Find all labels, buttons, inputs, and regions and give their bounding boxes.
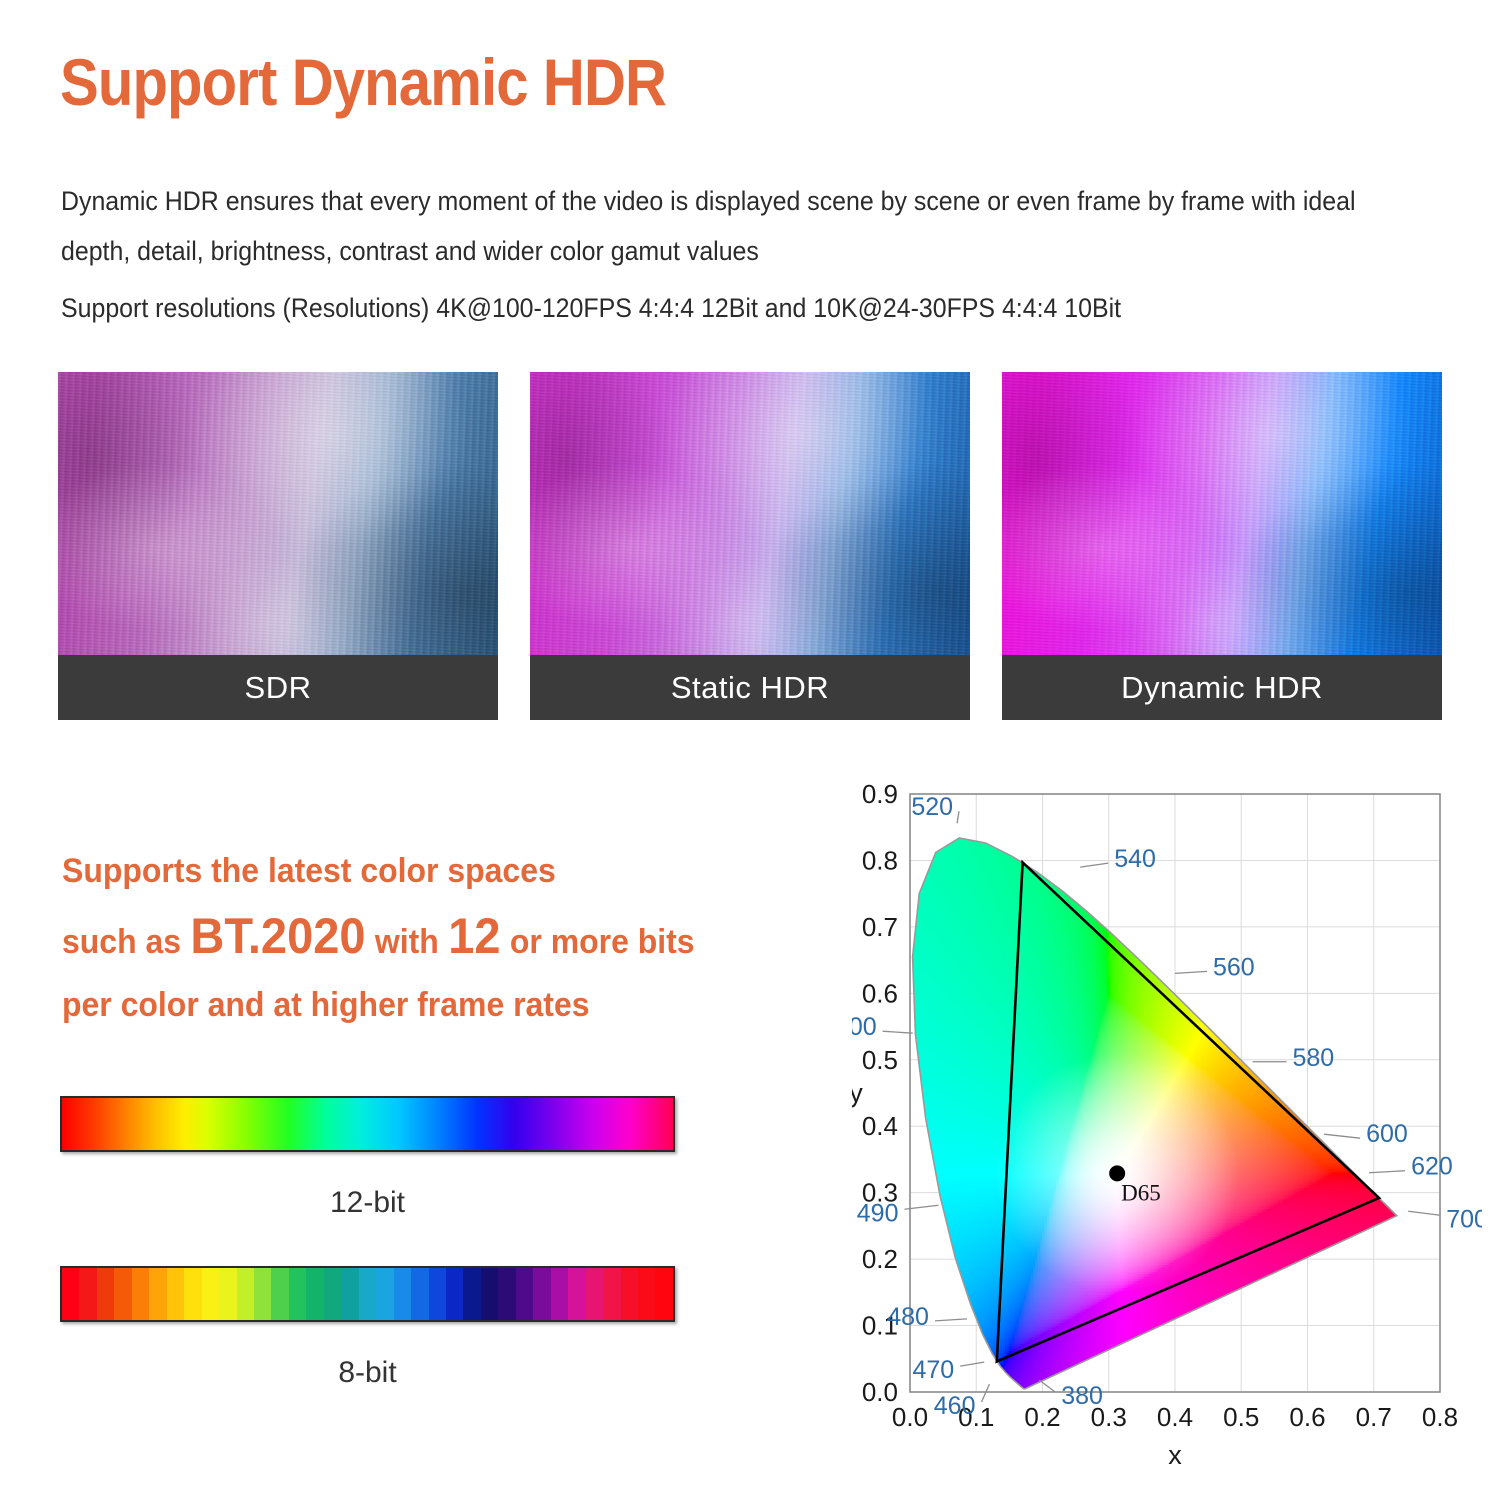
- gradient-band: [219, 1268, 236, 1320]
- gradient-bar-8bit-group: 8-bit: [60, 1266, 675, 1390]
- gradient-band: [551, 1268, 568, 1320]
- wavelength-leader: [1369, 1171, 1405, 1173]
- white-point-label: D65: [1121, 1180, 1161, 1205]
- color-spaces-suffix: or more bits: [510, 906, 695, 978]
- x-tick-label: 0.5: [1223, 1402, 1259, 1432]
- gradient-band: [481, 1268, 498, 1320]
- gradient-band: [446, 1268, 463, 1320]
- wavelength-label: 620: [1411, 1153, 1453, 1181]
- color-spaces-standard: BT.2020: [190, 900, 365, 972]
- panel-image-static-hdr: [530, 372, 970, 655]
- color-spaces-line-1: Supports the latest color spaces: [62, 842, 776, 900]
- y-tick-label: 0.6: [862, 978, 898, 1008]
- wavelength-leader: [982, 1384, 990, 1402]
- panel-image-grain-layer: [530, 372, 970, 655]
- gradient-band: [132, 1268, 149, 1320]
- wavelength-label: 500: [852, 1013, 877, 1041]
- gradient-bar-8bit-caption: 8-bit: [60, 1356, 675, 1390]
- color-spaces-line-3: per color and at higher frame rates: [62, 978, 776, 1032]
- y-tick-label: 0.9: [862, 779, 898, 809]
- gradient-band: [568, 1268, 585, 1320]
- gradient-band: [341, 1268, 358, 1320]
- panel-label-sdr: SDR: [58, 655, 498, 720]
- panel-label-dynamic-hdr: Dynamic HDR: [1002, 655, 1442, 720]
- gradient-band: [655, 1268, 672, 1320]
- cie-chromaticity-svg: D650.00.10.20.30.40.50.60.70.80.00.10.20…: [852, 772, 1482, 1472]
- gradient-band: [603, 1268, 620, 1320]
- gradient-band: [202, 1268, 219, 1320]
- y-tick-label: 0.7: [862, 912, 898, 942]
- intro-line-1: Dynamic HDR ensures that every moment of…: [61, 186, 1356, 216]
- x-axis-label: x: [1168, 1440, 1182, 1470]
- gradient-band: [533, 1268, 550, 1320]
- wavelength-label: 380: [1061, 1382, 1103, 1410]
- color-spaces-with: with: [375, 906, 439, 978]
- wavelength-leader: [957, 811, 959, 823]
- comparison-panel-dynamic-hdr: Dynamic HDR: [1002, 372, 1442, 720]
- color-spaces-text-block: Supports the latest color spaces such as…: [62, 842, 776, 1032]
- gradient-band: [516, 1268, 533, 1320]
- intro-line-2: depth, detail, brightness, contrast and …: [61, 226, 1377, 276]
- y-tick-label: 0.2: [862, 1244, 898, 1274]
- wavelength-leader: [883, 1031, 913, 1033]
- gradient-band: [306, 1268, 323, 1320]
- wavelength-leader: [1324, 1134, 1360, 1138]
- wavelength-leader: [1080, 863, 1108, 867]
- gradient-band: [149, 1268, 166, 1320]
- x-tick-label: 0.2: [1024, 1402, 1060, 1432]
- panel-image-grain-layer: [1002, 372, 1442, 655]
- gradient-band: [271, 1268, 288, 1320]
- gradient-band: [114, 1268, 131, 1320]
- wavelength-label: 600: [1366, 1120, 1408, 1148]
- y-tick-label: 0.5: [862, 1045, 898, 1075]
- gradient-band: [289, 1268, 306, 1320]
- panel-image-dynamic-hdr: [1002, 372, 1442, 655]
- comparison-panel-static-hdr: Static HDR: [530, 372, 970, 720]
- y-tick-label: 0.0: [862, 1377, 898, 1407]
- page-title: Support Dynamic HDR: [60, 44, 666, 120]
- panel-image-grain-layer: [58, 372, 498, 655]
- gradient-band: [324, 1268, 341, 1320]
- wavelength-label: 520: [911, 793, 953, 821]
- gradient-band: [184, 1268, 201, 1320]
- gradient-band: [167, 1268, 184, 1320]
- color-spaces-line-2: such as BT.2020 with 12 or more bits: [62, 900, 776, 978]
- wavelength-leader: [935, 1319, 967, 1321]
- comparison-panel-sdr: SDR: [58, 372, 498, 720]
- wavelength-label: 580: [1293, 1044, 1335, 1072]
- gradient-band: [463, 1268, 480, 1320]
- gradient-band: [394, 1268, 411, 1320]
- x-tick-label: 0.6: [1289, 1402, 1325, 1432]
- gradient-bar-8bit: [60, 1266, 675, 1322]
- wavelength-label: 700: [1446, 1205, 1482, 1233]
- wavelength-label: 470: [912, 1356, 954, 1384]
- wavelength-label: 480: [887, 1303, 929, 1331]
- white-point-marker: [1109, 1165, 1125, 1181]
- wavelength-label: 460: [934, 1392, 976, 1420]
- gradient-bar-12bit-caption: 12-bit: [60, 1186, 675, 1220]
- panel-image-sdr: [58, 372, 498, 655]
- gradient-band: [429, 1268, 446, 1320]
- x-tick-label: 0.4: [1157, 1402, 1193, 1432]
- x-tick-label: 0.8: [1422, 1402, 1458, 1432]
- color-spaces-bit-depth: 12: [448, 900, 500, 972]
- y-axis-label: y: [852, 1078, 863, 1108]
- gradient-band: [638, 1268, 655, 1320]
- wavelength-label: 490: [857, 1199, 899, 1227]
- color-spaces-prefix: such as: [62, 906, 181, 978]
- wavelength-leader: [960, 1362, 984, 1366]
- gradient-band: [237, 1268, 254, 1320]
- wavelength-leader: [1039, 1380, 1055, 1392]
- wavelength-leader: [1408, 1211, 1440, 1215]
- gradient-band: [254, 1268, 271, 1320]
- intro-paragraph: Dynamic HDR ensures that every moment of…: [61, 176, 1377, 276]
- gradient-band: [79, 1268, 96, 1320]
- wavelength-label: 560: [1213, 953, 1255, 981]
- gradient-band: [586, 1268, 603, 1320]
- gradient-bar-12bit-group: 12-bit: [60, 1096, 675, 1220]
- gradient-band: [62, 1268, 79, 1320]
- gradient-band: [621, 1268, 638, 1320]
- cie-chromaticity-chart: D650.00.10.20.30.40.50.60.70.80.00.10.20…: [852, 772, 1482, 1472]
- gradient-band: [359, 1268, 376, 1320]
- gradient-band: [411, 1268, 428, 1320]
- gradient-bar-12bit: [60, 1096, 675, 1152]
- hdr-comparison-panels: SDR Static HDR Dynamic HDR: [58, 372, 1442, 720]
- gradient-band: [376, 1268, 393, 1320]
- wavelength-leader: [1175, 971, 1207, 973]
- gradient-band: [97, 1268, 114, 1320]
- x-tick-label: 0.7: [1356, 1402, 1392, 1432]
- panel-label-static-hdr: Static HDR: [530, 655, 970, 720]
- y-tick-label: 0.8: [862, 845, 898, 875]
- wavelength-label: 540: [1114, 845, 1156, 873]
- resolutions-line: Support resolutions (Resolutions) 4K@100…: [61, 288, 1377, 328]
- gradient-band: [498, 1268, 515, 1320]
- y-tick-label: 0.4: [862, 1111, 898, 1141]
